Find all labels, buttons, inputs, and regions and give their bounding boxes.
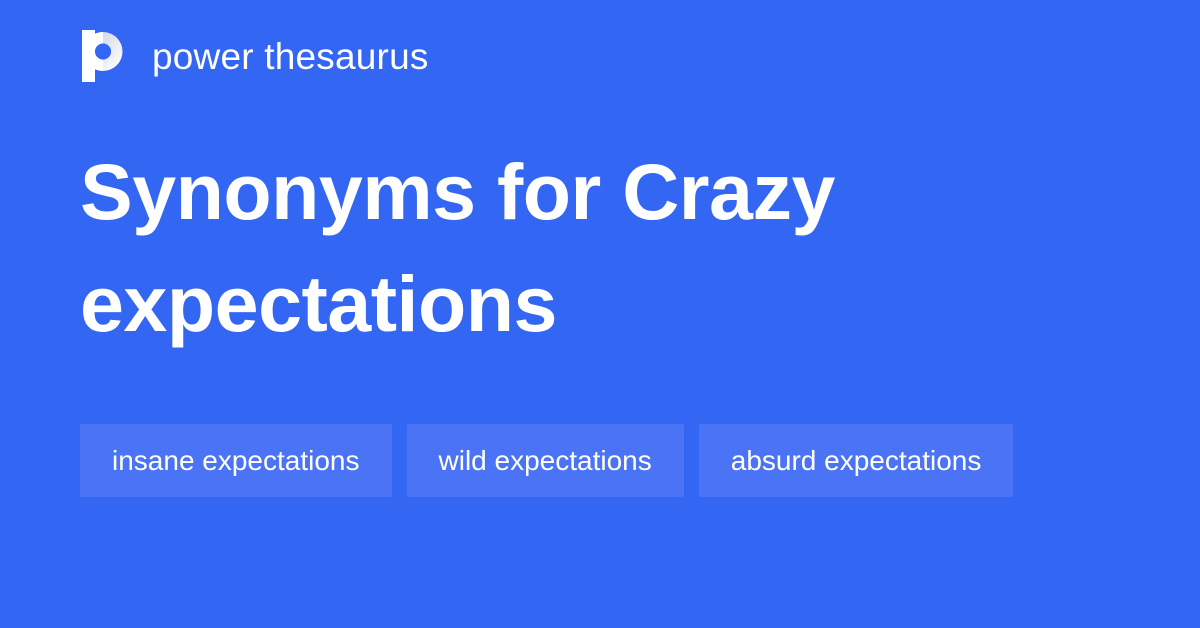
brand-name: power thesaurus [152,38,429,75]
synonym-chip[interactable]: absurd expectations [699,424,1014,497]
synonym-chip[interactable]: insane expectations [80,424,392,497]
synonyms-share-card: power thesaurus Synonyms for Crazy expec… [0,0,1200,628]
synonym-chip-list: insane expectations wild expectations ab… [80,424,1120,497]
page-title: Synonyms for Crazy expectations [80,136,1090,360]
power-thesaurus-b-logo-icon [80,30,126,82]
brand-header[interactable]: power thesaurus [80,28,429,84]
synonym-chip[interactable]: wild expectations [407,424,684,497]
